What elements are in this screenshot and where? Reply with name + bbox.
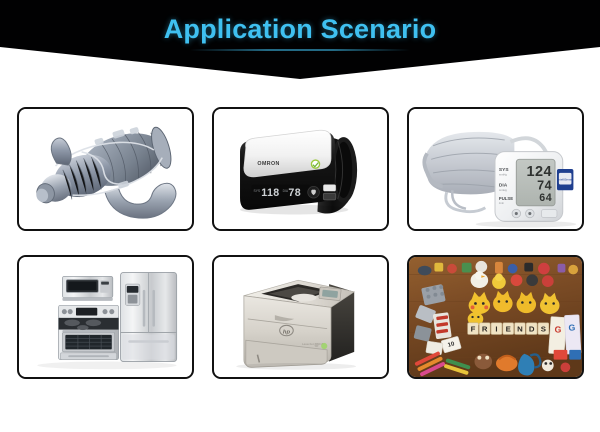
svg-text:SYS: SYS [254, 189, 261, 193]
svg-text:PULSE: PULSE [499, 196, 513, 201]
svg-text:78: 78 [288, 187, 301, 199]
svg-text:DIA: DIA [499, 182, 508, 188]
scenario-card-aerospace-turbine-engine[interactable]: Aerospace turbine engine [17, 107, 194, 231]
svg-text:118: 118 [261, 187, 279, 199]
tile-letter-e: E [506, 325, 511, 334]
header-banner: Application Scenario [0, 0, 600, 80]
svg-text:G: G [568, 322, 576, 332]
tile-letter-f: F [471, 325, 476, 334]
tile-letter-s: S [541, 325, 546, 334]
svg-text:mmHg: mmHg [499, 172, 507, 176]
kitchen-home-appliances-image [19, 257, 192, 377]
application-scenario-gallery: Aerospace turbine engine [17, 107, 583, 379]
title-underline [190, 49, 410, 51]
svg-text:LaserJet P3015: LaserJet P3015 [302, 342, 324, 346]
svg-text:IntelliSense: IntelliSense [558, 178, 573, 182]
tile-letter-d: D [529, 325, 535, 334]
blood-pressure-monitor-with-cuff-image: 124 74 64 SYS mmHg DIA mmHg PULSE /min I… [409, 109, 582, 229]
svg-text:mmHg: mmHg [499, 188, 507, 192]
aerospace-turbine-engine-image [19, 109, 192, 229]
hp-laser-printer-image: hp LaserJet P3015 [214, 257, 387, 377]
scenario-card-hp-laser-printer[interactable]: hp LaserJet P3015 HP LaserJet office pri… [212, 255, 389, 379]
scenario-card-toys-flat-lay-friends[interactable]: 10 F R [407, 255, 584, 379]
svg-text:/min: /min [499, 201, 505, 205]
svg-text:74: 74 [537, 178, 552, 192]
scenario-card-omron-blood-pressure-monitor[interactable]: OMRON SYS 118 DIA 78 [212, 107, 389, 231]
scenario-card-blood-pressure-monitor-with-cuff[interactable]: 124 74 64 SYS mmHg DIA mmHg PULSE /min I… [407, 107, 584, 231]
tile-letter-n: N [517, 325, 523, 334]
tile-letter-r: R [482, 325, 488, 334]
toys-flat-lay-image: 10 F R [409, 257, 582, 377]
omron-blood-pressure-monitor-image: OMRON SYS 118 DIA 78 [214, 109, 387, 229]
tile-letter-i: I [495, 325, 497, 334]
svg-text:SYS: SYS [499, 167, 509, 173]
svg-text:hp: hp [283, 329, 291, 335]
svg-text:G: G [554, 324, 562, 334]
scenario-card-kitchen-home-appliances[interactable]: Stainless steel kitchen appliances: micr… [17, 255, 194, 379]
page-title: Application Scenario [0, 14, 600, 45]
svg-text:OMRON: OMRON [257, 161, 279, 167]
svg-text:64: 64 [539, 192, 552, 204]
